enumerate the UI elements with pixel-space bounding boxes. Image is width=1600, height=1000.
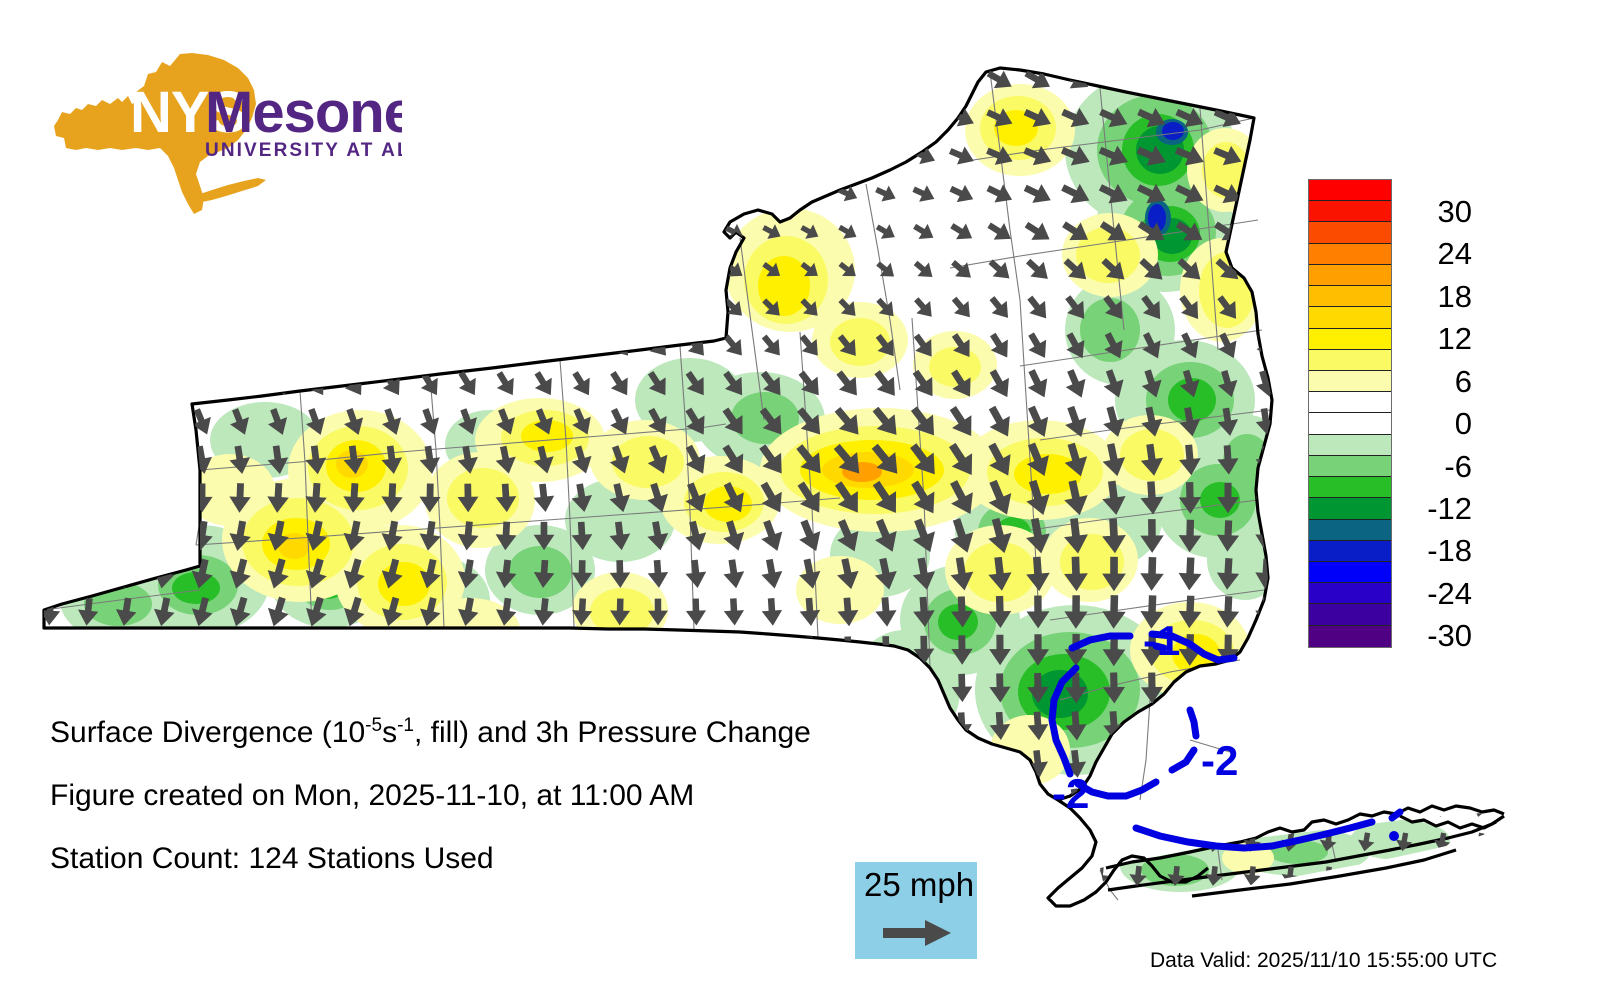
wind-arrow	[909, 104, 939, 132]
wind-arrow	[148, 65, 179, 95]
wind-arrow	[301, 104, 332, 132]
wind-arrow	[683, 182, 709, 206]
wind-arrow	[418, 673, 443, 703]
wind-arrow	[339, 104, 370, 132]
wind-arrow	[301, 181, 330, 206]
wind-arrow	[533, 674, 555, 702]
colorbar-tick-30: 30	[1400, 196, 1472, 227]
wind-arrow	[605, 256, 634, 284]
colorbar-band--6	[1309, 456, 1391, 477]
wind-arrow	[149, 406, 178, 439]
wind-arrow	[225, 256, 256, 283]
wind-arrow	[491, 104, 521, 132]
wind-arrow	[36, 406, 65, 438]
colorbar-band--3	[1309, 435, 1391, 456]
wind-arrow	[376, 330, 408, 362]
wind-arrow	[263, 256, 294, 284]
wind-arrow	[76, 635, 99, 664]
wind-arrow	[567, 65, 598, 94]
wind-arrow	[153, 483, 175, 512]
wind-arrow	[38, 483, 62, 512]
wind-arrow	[1318, 797, 1339, 819]
wind-arrow	[838, 675, 858, 702]
wind-arrow	[835, 144, 861, 168]
wind-arrow	[720, 105, 748, 131]
wind-arrow	[1255, 635, 1277, 665]
wind-arrow	[263, 104, 294, 132]
wind-arrow	[225, 104, 256, 132]
wind-arrow	[762, 675, 782, 701]
caption-title-post: , fill) and 3h Pressure Change	[414, 716, 811, 749]
wind-arrow	[114, 635, 138, 665]
wind-arrow	[39, 522, 60, 550]
wind-arrow	[567, 293, 598, 323]
wind-arrow	[1249, 253, 1283, 286]
colorbar-band-18	[1309, 286, 1391, 307]
wind-arrow	[72, 65, 103, 95]
wind-arrow	[1470, 866, 1489, 887]
wind-arrow	[73, 256, 104, 284]
colorbar-band-24	[1309, 244, 1391, 265]
wind-arrow	[1255, 712, 1277, 741]
wind-arrow	[114, 673, 138, 702]
wind-arrow	[338, 293, 370, 323]
wind-arrow	[35, 256, 66, 284]
wind-arrow	[681, 66, 711, 94]
colorbar-tick-18: 18	[1400, 281, 1472, 312]
wind-arrow	[73, 406, 102, 438]
wind-arrow	[1173, 64, 1207, 96]
wind-arrow	[378, 634, 405, 667]
wind-arrow	[1255, 750, 1278, 779]
wind-arrow	[224, 330, 256, 362]
wind-arrow	[528, 65, 559, 95]
wind-arrow	[187, 143, 217, 169]
wind-arrow	[415, 104, 446, 132]
wind-arrow	[110, 368, 141, 400]
wind-arrow	[644, 219, 672, 244]
colorbar-band--21	[1309, 562, 1391, 583]
wind-arrow	[721, 182, 746, 205]
wind-arrow	[339, 256, 370, 284]
wind-arrow	[681, 294, 710, 323]
colorbar-tick--18: -18	[1400, 535, 1472, 566]
wind-arrow	[606, 181, 634, 206]
wind-arrow	[40, 560, 61, 588]
wind-arrow	[263, 181, 292, 206]
wind-arrow	[795, 66, 825, 94]
wind-arrow	[1254, 788, 1277, 816]
wind-arrow	[452, 293, 484, 323]
wind-arrow	[529, 256, 560, 284]
wind-arrow	[339, 181, 368, 206]
wind-arrow	[606, 143, 634, 168]
wind-arrow	[34, 330, 66, 361]
wind-arrow	[338, 330, 370, 362]
wind-arrow	[37, 445, 63, 476]
wind-arrow	[265, 672, 291, 704]
wind-arrow	[1241, 796, 1262, 819]
wind-arrow	[72, 293, 103, 323]
contour-label-neg2: -2	[1201, 737, 1238, 784]
wind-speed-legend: 25 mph	[855, 862, 977, 959]
wind-arrow	[262, 330, 294, 362]
caption-line-station-count: Station Count: 124 Stations Used	[50, 844, 950, 874]
wind-arrow	[643, 105, 672, 132]
colorbar-tick--6: -6	[1400, 451, 1472, 482]
wind-arrow	[950, 788, 973, 816]
wind-arrow	[303, 672, 329, 704]
wind-arrow	[111, 406, 140, 438]
wind-arrow	[567, 219, 596, 245]
wind-arrow	[73, 181, 102, 206]
wind-arrow	[111, 181, 140, 206]
colorbar-band--15	[1309, 520, 1391, 541]
wind-arrow	[796, 105, 824, 131]
wind-arrow	[529, 143, 558, 169]
wind-arrow	[376, 293, 408, 323]
wind-arrow	[187, 219, 216, 245]
wind-arrow	[760, 182, 785, 205]
wind-arrow	[759, 144, 785, 168]
wind-arrow	[300, 65, 331, 95]
colorbar-band-6	[1309, 371, 1391, 392]
wind-arrow	[1211, 64, 1245, 95]
wind-arrow	[415, 143, 445, 169]
wind-arrow	[453, 256, 484, 284]
wind-arrow	[224, 293, 256, 323]
wind-arrow	[453, 143, 483, 169]
caption-line-created: Figure created on Mon, 2025-11-10, at 11…	[50, 781, 950, 811]
wind-arrow	[494, 635, 518, 665]
wind-arrow	[453, 181, 482, 207]
wind-arrow	[1255, 673, 1276, 702]
colorbar-band--30	[1309, 626, 1391, 647]
wind-arrow	[113, 444, 139, 475]
wind-arrow	[1280, 797, 1301, 820]
wind-arrow	[453, 104, 484, 132]
wind-arrow	[686, 675, 706, 701]
wind-arrow	[152, 673, 177, 703]
wind-arrow	[110, 330, 142, 361]
wind-arrow	[456, 673, 480, 702]
colorbar-band--24	[1309, 583, 1391, 604]
colorbar-band--12	[1309, 498, 1391, 519]
wind-arrow	[1203, 796, 1225, 820]
wind-arrow	[189, 673, 214, 704]
wind-arrow	[263, 143, 293, 169]
wind-arrow	[988, 788, 1011, 817]
contour-label-neg2b: -2	[1052, 770, 1089, 817]
wind-arrow	[377, 181, 406, 206]
wind-arrow	[452, 65, 483, 95]
wind-arrow	[1102, 787, 1126, 817]
wind-arrow	[724, 675, 744, 701]
wind-arrow	[644, 143, 672, 168]
wind-arrow	[186, 65, 217, 95]
wind-arrow	[149, 181, 178, 206]
wind-arrow	[224, 65, 255, 95]
wind-arrow	[490, 330, 521, 362]
wind-arrow	[610, 675, 631, 701]
wind-arrow	[149, 256, 180, 283]
wind-arrow	[568, 143, 597, 169]
wind-arrow	[262, 65, 293, 95]
wind-arrow	[571, 674, 592, 701]
wind-arrow	[491, 143, 521, 169]
wind-arrow	[77, 559, 99, 588]
wind-arrow	[35, 181, 64, 206]
wind-arrow	[34, 293, 65, 323]
wind-arrow	[377, 256, 408, 284]
wind-arrow	[682, 105, 711, 131]
wind-arrow	[876, 674, 897, 701]
wind-arrow	[683, 144, 710, 169]
wind-arrow	[456, 635, 481, 666]
wind-arrow	[453, 219, 483, 245]
wind-arrow	[1432, 866, 1451, 887]
wind-arrow	[567, 104, 597, 131]
wind-arrow	[1127, 796, 1149, 820]
colorbar-tick-0: 0	[1400, 408, 1472, 439]
wind-arrow	[721, 144, 747, 168]
wind-arrow	[262, 293, 294, 323]
wind-arrow	[225, 143, 255, 169]
wind-arrow	[758, 105, 786, 131]
colorbar-tick-6: 6	[1400, 366, 1472, 397]
wind-arrow	[35, 143, 65, 169]
wind-arrow	[1249, 65, 1282, 96]
wind-arrow	[1165, 796, 1187, 820]
wind-arrow	[35, 368, 66, 400]
wind-arrow	[300, 330, 332, 362]
colorbar-band--27	[1309, 604, 1391, 625]
wind-arrow	[227, 672, 253, 703]
wind-arrow	[189, 634, 216, 666]
caption-title-pre: Surface Divergence (10	[50, 716, 365, 749]
wind-arrow	[72, 330, 104, 361]
wind-arrow	[644, 182, 671, 207]
wind-arrow	[762, 637, 782, 664]
wind-arrow	[682, 257, 710, 284]
wind-arrow	[77, 674, 100, 703]
wind-arrow	[908, 65, 939, 94]
wind-arrow	[151, 634, 177, 665]
wind-arrow	[683, 220, 710, 245]
wind-arrow	[686, 637, 706, 663]
wind-arrow	[797, 144, 823, 168]
wind-arrow	[187, 256, 218, 283]
colorbar-band--18	[1309, 541, 1391, 562]
wind-arrow	[491, 256, 522, 284]
colorbar-band-27	[1309, 222, 1391, 243]
wind-arrow	[605, 293, 635, 323]
colorbar-band-21	[1309, 265, 1391, 286]
wind-arrow	[491, 181, 520, 207]
wind-arrow	[377, 104, 408, 132]
wind-arrow	[800, 636, 821, 663]
wind-arrow	[567, 256, 597, 284]
wind-arrow	[533, 636, 556, 665]
wind-arrow	[415, 256, 446, 284]
wind-arrow	[491, 219, 521, 246]
wind-arrow	[648, 675, 668, 701]
wind-arrow	[605, 65, 636, 94]
colorbar-tick--24: -24	[1400, 578, 1472, 609]
wind-arrow	[528, 293, 559, 323]
caption-title-mid: s	[382, 716, 397, 749]
wind-arrow	[187, 181, 216, 206]
wind-arrow	[115, 521, 137, 550]
wind-arrow	[529, 219, 559, 246]
wind-arrow	[186, 368, 217, 401]
colorbar-tick--12: -12	[1400, 493, 1472, 524]
wind-arrow	[610, 636, 631, 663]
wind-arrow	[148, 368, 179, 401]
wind-arrow	[73, 368, 104, 400]
wind-arrow	[186, 293, 218, 323]
wind-arrow	[800, 675, 820, 701]
wind-arrow	[300, 293, 332, 323]
wind-arrow	[490, 293, 521, 323]
wind-arrow	[871, 105, 900, 132]
colorbar-band-30	[1309, 201, 1391, 222]
wind-arrow	[264, 633, 292, 666]
wind-arrow	[111, 143, 141, 169]
wind-arrow	[568, 181, 597, 206]
wind-arrow	[110, 293, 142, 323]
wind-arrow	[339, 219, 369, 245]
wind-arrow	[377, 219, 407, 245]
contour-label-neg1: -1	[1143, 617, 1180, 664]
wind-arrow	[152, 520, 176, 551]
wind-arrow	[225, 219, 254, 245]
wind-arrow	[415, 219, 445, 245]
caption-exponent-2: -1	[397, 715, 414, 736]
wind-arrow	[415, 181, 444, 206]
wind-arrow	[417, 634, 443, 666]
wind-legend-arrow-icon	[883, 917, 953, 949]
figure-canvas: NYS Mesonet UNIVERSITY AT ALBANY	[0, 0, 1600, 1000]
wind-arrow	[111, 104, 142, 132]
wind-arrow	[151, 444, 177, 475]
wind-arrow	[1394, 866, 1413, 887]
wind-arrow	[719, 66, 749, 94]
colorbar-band--9	[1309, 477, 1391, 498]
wind-arrow	[376, 65, 407, 95]
wind-arrow	[648, 637, 668, 663]
wind-arrow	[377, 143, 407, 169]
wind-arrow	[606, 219, 634, 245]
wind-arrow	[224, 368, 255, 401]
wind-arrow	[78, 522, 99, 550]
wind-arrow	[989, 750, 1012, 779]
wind-arrow	[872, 143, 900, 168]
wind-arrow	[301, 219, 331, 245]
wind-arrow	[1216, 788, 1239, 817]
wind-arrow	[871, 66, 902, 95]
wind-arrow	[834, 105, 862, 131]
caption-exponent-1: -5	[365, 715, 382, 736]
colorbar-band-12	[1309, 329, 1391, 350]
wind-arrow	[301, 143, 331, 169]
divergence-colorbar	[1308, 179, 1392, 648]
wind-arrow	[1178, 787, 1202, 816]
data-valid-timestamp: Data Valid: 2025/11/10 15:55:00 UTC	[1150, 950, 1497, 972]
wind-arrow	[643, 293, 673, 322]
colorbar-band-3	[1309, 392, 1391, 413]
wind-arrow	[341, 672, 367, 703]
colorbar-band-15	[1309, 307, 1391, 328]
wind-arrow	[379, 673, 404, 704]
wind-arrow	[301, 256, 332, 284]
wind-arrow	[302, 633, 330, 667]
wind-arrow	[73, 143, 103, 169]
wind-arrow	[148, 293, 180, 323]
wind-arrow	[490, 65, 521, 95]
wind-arrow	[571, 636, 593, 664]
wind-legend-label: 25 mph	[864, 867, 974, 903]
figure-caption: Surface Divergence (10-5s-1, fill) and 3…	[50, 718, 950, 907]
wind-arrow	[529, 181, 558, 207]
wind-arrow	[39, 636, 61, 664]
wind-arrow	[73, 219, 103, 245]
wind-arrow	[529, 104, 559, 132]
colorbar-band-33	[1309, 180, 1391, 201]
wind-arrow	[414, 65, 445, 95]
wind-arrow	[75, 444, 101, 475]
wind-arrow	[528, 330, 559, 362]
wind-arrow	[495, 674, 518, 703]
wind-arrow	[1140, 711, 1163, 742]
wind-arrow	[913, 674, 934, 702]
wind-arrow	[1249, 141, 1283, 171]
wind-arrow	[340, 633, 368, 666]
wind-arrow	[644, 256, 673, 283]
wind-arrow	[35, 219, 65, 245]
wind-arrow	[149, 219, 178, 245]
wind-arrow	[225, 181, 254, 206]
wind-arrow	[339, 143, 369, 169]
wind-arrow	[951, 750, 974, 778]
caption-line-title: Surface Divergence (10-5s-1, fill) and 3…	[50, 718, 950, 748]
wind-arrow	[833, 66, 863, 94]
wind-arrow	[149, 143, 179, 169]
wind-arrow	[39, 674, 61, 702]
wind-arrow	[226, 633, 254, 666]
wind-arrow	[643, 66, 673, 95]
wind-arrow	[110, 65, 141, 95]
wind-arrow	[73, 104, 104, 132]
colorbar-band-0	[1309, 413, 1391, 434]
wind-arrow	[115, 483, 138, 512]
colorbar-tick-labels: 3024181260-6-12-18-24-30	[1400, 160, 1480, 670]
wind-arrow	[35, 104, 66, 132]
wind-arrow	[724, 637, 744, 663]
wind-arrow	[263, 219, 293, 245]
wind-arrow	[34, 65, 65, 95]
colorbar-tick--30: -30	[1400, 620, 1472, 651]
wind-arrow	[338, 65, 369, 95]
wind-arrow	[148, 330, 180, 362]
wind-arrow	[149, 104, 180, 132]
wind-arrow	[76, 483, 99, 513]
wind-arrow	[187, 104, 218, 132]
colorbar-tick-24: 24	[1400, 238, 1472, 269]
wind-arrow	[1102, 749, 1126, 779]
wind-arrow	[414, 293, 446, 323]
wind-arrow	[1217, 673, 1239, 703]
